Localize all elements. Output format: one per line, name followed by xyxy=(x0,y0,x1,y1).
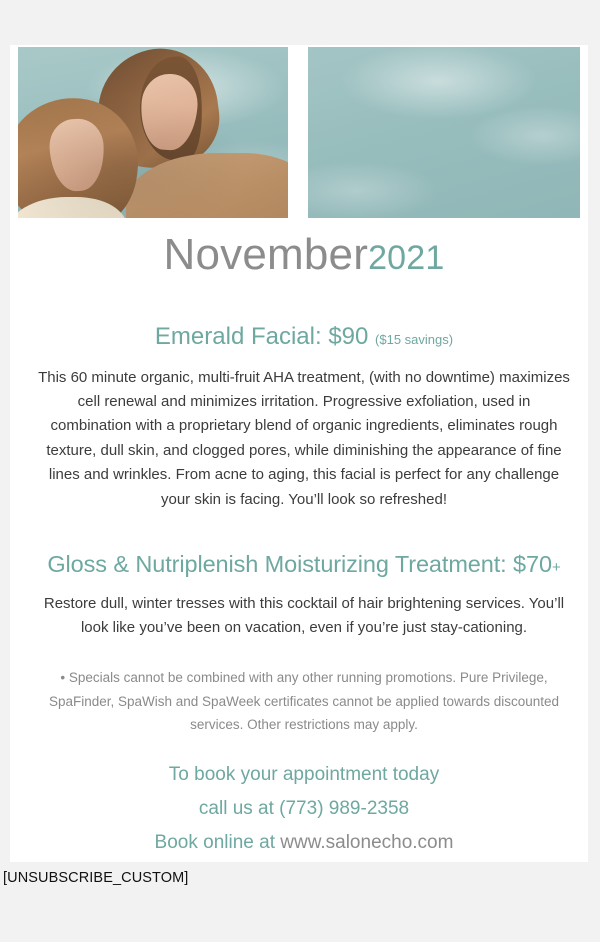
offer-title-2-plus: + xyxy=(552,559,561,576)
email-preview: November2021 Emerald Facial: $90 ($15 sa… xyxy=(0,0,600,942)
fineprint-disclaimer: • Specials cannot be combined with any o… xyxy=(18,640,590,736)
offer-title-2: Gloss & Nutriplenish Moisturizing Treatm… xyxy=(18,512,590,579)
email-content: November2021 Emerald Facial: $90 ($15 sa… xyxy=(18,230,590,860)
hero-image-left xyxy=(18,47,288,218)
cta-book-online-label: Book online at xyxy=(155,832,281,853)
offer-description-1: This 60 minute organic, multi-fruit AHA … xyxy=(18,352,590,513)
offer-title-1: Emerald Facial: $90 ($15 savings) xyxy=(18,283,590,352)
sky-backdrop-clouds xyxy=(308,47,580,218)
cta-block: To book your appointment today call us a… xyxy=(18,736,590,859)
title-month: November xyxy=(163,230,368,279)
cta-website-link[interactable]: www.salonecho.com xyxy=(280,832,453,853)
offer-description-2: Restore dull, winter tresses with this c… xyxy=(18,580,590,641)
page-title: November2021 xyxy=(18,230,590,283)
offer-title-1-text: Emerald Facial: $90 xyxy=(155,323,368,350)
offer-title-2-text: Gloss & Nutriplenish Moisturizing Treatm… xyxy=(47,551,552,577)
image-shading xyxy=(18,47,288,218)
hero-image-right xyxy=(308,47,580,218)
cta-line-1: To book your appointment today xyxy=(169,764,439,785)
title-year: 2021 xyxy=(368,239,444,277)
email-body-panel: November2021 Emerald Facial: $90 ($15 sa… xyxy=(10,45,588,862)
unsubscribe-placeholder[interactable]: [UNSUBSCRIBE_CUSTOM] xyxy=(3,870,188,886)
hero-image-row xyxy=(18,47,590,218)
offer-savings-badge: ($15 savings) xyxy=(375,332,453,347)
cta-phone[interactable]: call us at (773) 989-2358 xyxy=(199,798,409,819)
